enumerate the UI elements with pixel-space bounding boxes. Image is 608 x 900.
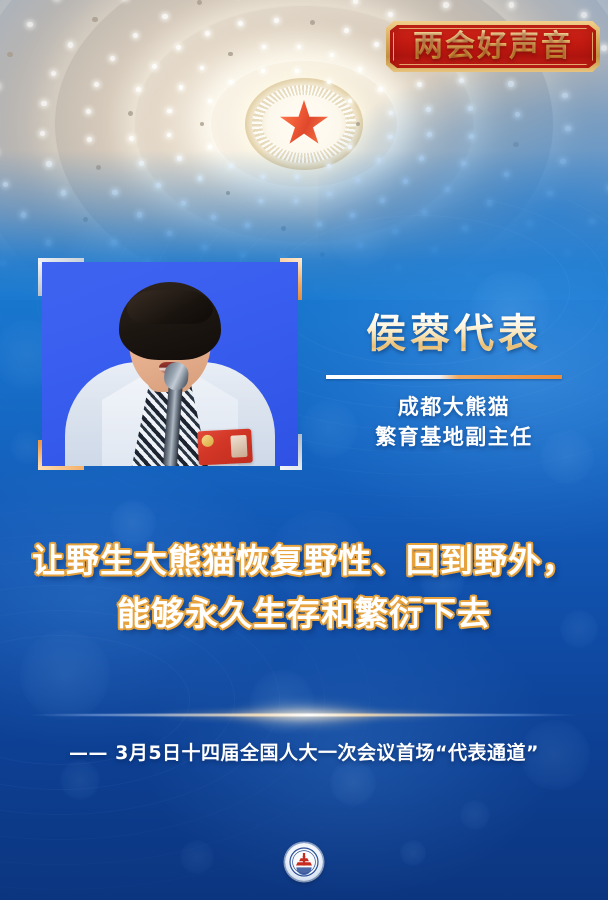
name-divider bbox=[326, 375, 562, 379]
photo-corner-top-right bbox=[280, 258, 302, 300]
horizon-light-streak bbox=[0, 695, 608, 735]
photo-corner-bottom-left bbox=[38, 440, 84, 470]
quote-block: 让野生大熊猫恢复野性、回到野外， 能够永久生存和繁衍下去 bbox=[0, 534, 608, 641]
quote-line-1: 让野生大熊猫恢复野性、回到野外， bbox=[0, 534, 608, 587]
portrait-fringe bbox=[127, 290, 213, 324]
poster-canvas: 两会好声音 侯蓉代表 成都大熊猫 繁育基 bbox=[0, 0, 608, 900]
quote-line-2: 能够永久生存和繁衍下去 bbox=[0, 587, 608, 640]
delegate-badge bbox=[197, 429, 253, 466]
speaker-photo-frame bbox=[38, 258, 302, 470]
photo-corner-top-left-extension bbox=[38, 258, 84, 278]
xinhua-news-emblem-icon bbox=[285, 843, 323, 881]
attribution-line: —— 3月5日十四届全国人大一次会议首场“代表通道” bbox=[0, 738, 608, 765]
speaker-role: 成都大熊猫 繁育基地副主任 bbox=[318, 392, 590, 453]
speaker-photo bbox=[42, 262, 298, 466]
speaker-role-line1: 成都大熊猫 bbox=[318, 392, 590, 422]
banner-title: 两会好声音 bbox=[386, 21, 600, 72]
photo-corner-bottom-right bbox=[280, 434, 302, 470]
program-banner: 两会好声音 bbox=[386, 21, 600, 72]
speaker-name: 侯蓉代表 bbox=[318, 312, 590, 356]
speaker-role-line2: 繁育基地副主任 bbox=[318, 422, 590, 452]
